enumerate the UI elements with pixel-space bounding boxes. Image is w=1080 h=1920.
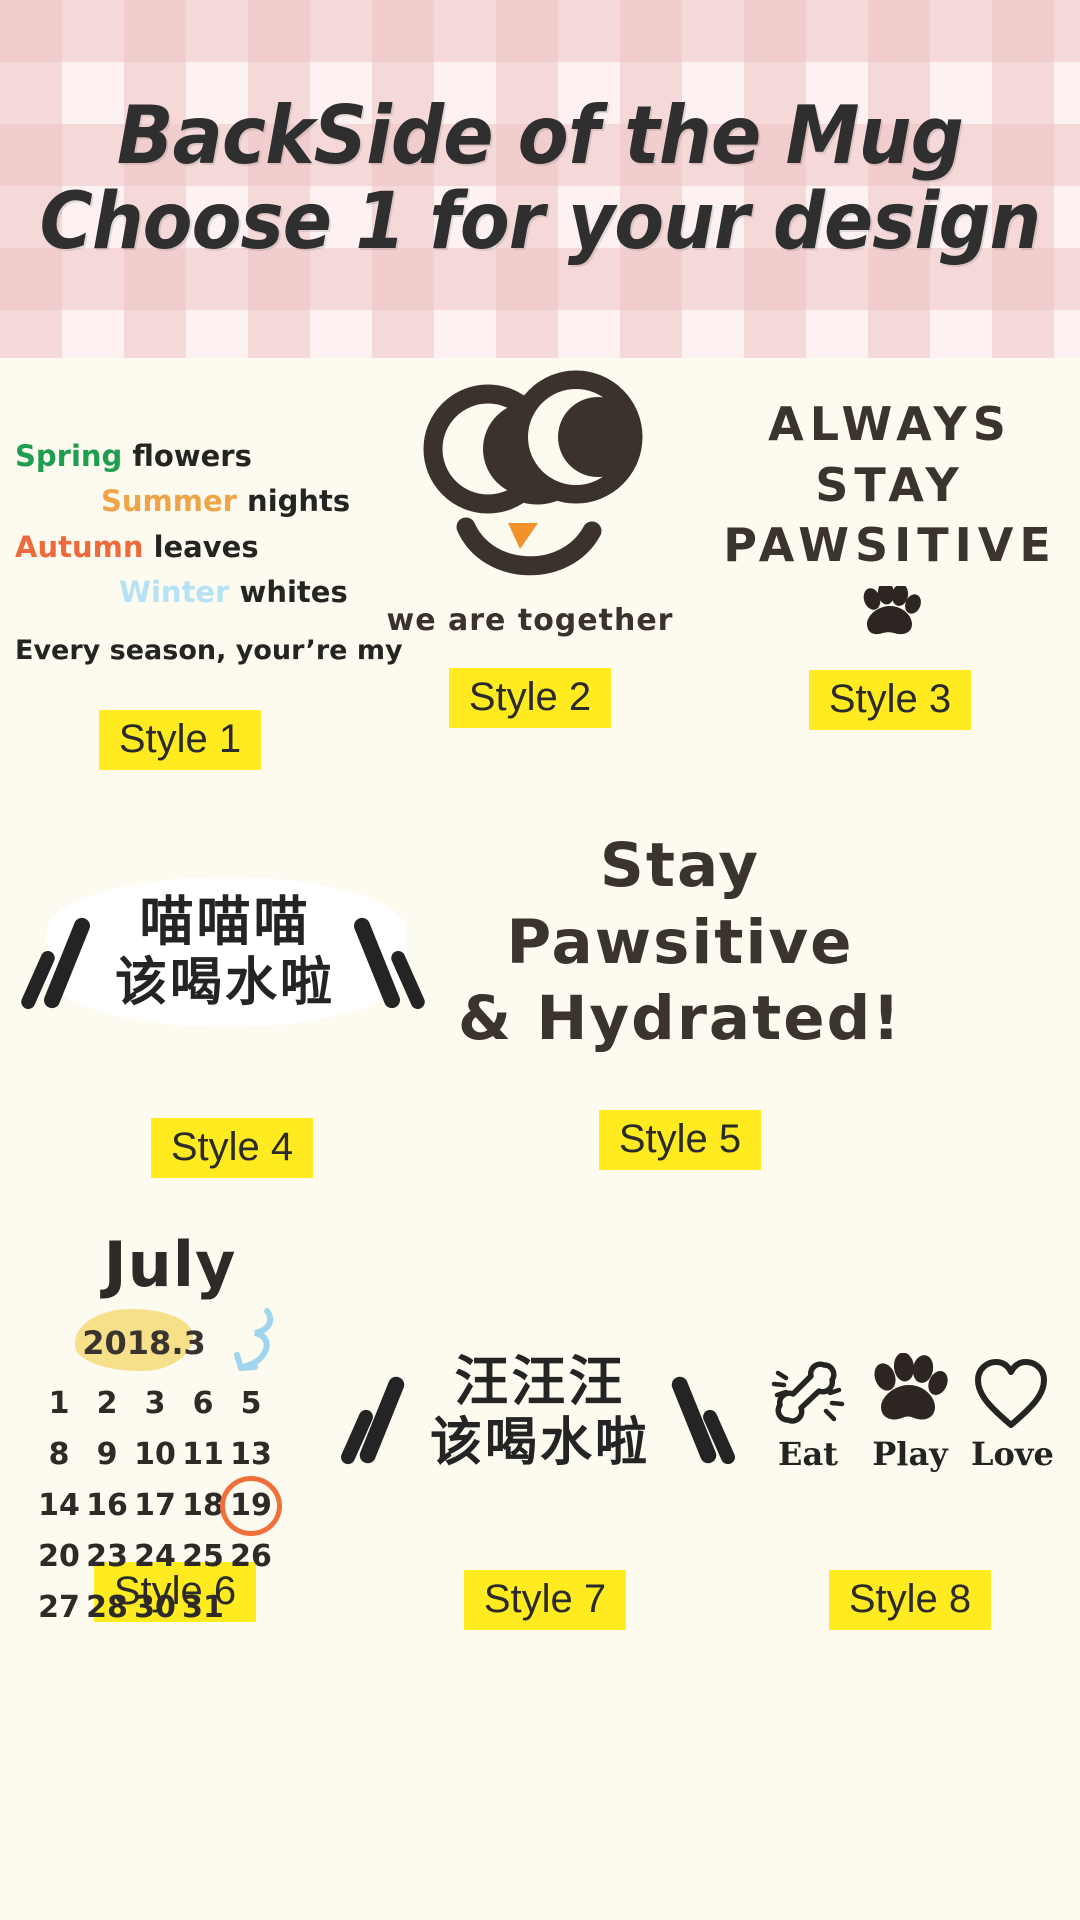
- calendar-day[interactable]: 10: [131, 1432, 179, 1477]
- style-4-sticker: 喵喵喵 该喝水啦: [25, 863, 425, 1043]
- style-7-sticker: 汪汪汪 该喝水啦: [350, 1328, 730, 1498]
- calendar-day[interactable]: 16: [83, 1483, 131, 1528]
- calendar-day[interactable]: 27: [35, 1585, 83, 1630]
- calendar-day[interactable]: 13: [227, 1432, 275, 1477]
- calendar-day[interactable]: 30: [131, 1585, 179, 1630]
- style-option-6[interactable]: July 2018.3 1 2 3 6 5 8 9: [0, 1218, 340, 1622]
- seasons-closing-line: Every season, your’re my: [15, 630, 345, 672]
- style-6-artwork: July 2018.3 1 2 3 6 5 8 9: [25, 1218, 315, 1548]
- season-rest-autumn: leaves: [154, 530, 259, 564]
- style-7-artwork: 汪汪汪 该喝水啦: [350, 1298, 730, 1528]
- calendar-year: 2018.3: [82, 1324, 205, 1362]
- bone-icon: [768, 1353, 848, 1433]
- calendar-day[interactable]: 20: [35, 1534, 83, 1579]
- eat-play-love-words: Eat Play Love: [767, 1435, 1053, 1473]
- style-8-artwork: Eat Play Love: [767, 1298, 1053, 1528]
- style-option-1[interactable]: Spring flowers Summer nights Autumn leav…: [0, 368, 360, 770]
- season-rest-summer: nights: [247, 484, 350, 518]
- style-7-line-2: 该喝水啦: [430, 1413, 650, 1474]
- style-1-artwork: Spring flowers Summer nights Autumn leav…: [15, 368, 345, 678]
- style-4-line-1: 喵喵喵: [115, 892, 335, 952]
- style-5-label[interactable]: Style 5: [599, 1110, 761, 1170]
- word-love: Love: [971, 1435, 1053, 1473]
- style-3-artwork: ALWAYS STAY PAWSITIVE: [723, 358, 1057, 638]
- calendar-day[interactable]: 11: [179, 1432, 227, 1477]
- style-4-artwork: 喵喵喵 该喝水啦: [25, 838, 425, 1068]
- style-5-artwork: Stay Pawsitive & Hydrated!: [458, 818, 902, 1068]
- style-4-text: 喵喵喵 该喝水啦: [115, 892, 335, 1014]
- header-title-line-2: Choose 1 for your design: [40, 182, 1041, 264]
- styles-grid: Spring flowers Summer nights Autumn leav…: [0, 358, 1080, 1920]
- hydrated-line-3: & Hydrated!: [458, 981, 902, 1058]
- calendar-day[interactable]: 31: [179, 1585, 227, 1630]
- curved-arrow-icon: [225, 1305, 281, 1379]
- season-rest-winter: whites: [240, 575, 348, 609]
- pawsitive-line-1: ALWAYS: [723, 394, 1057, 455]
- header-banner: BackSide of the Mug Choose 1 for your de…: [0, 0, 1080, 358]
- style-7-label[interactable]: Style 7: [464, 1570, 626, 1630]
- style-option-4[interactable]: 喵喵喵 该喝水啦 Style 4: [0, 838, 450, 1178]
- season-accent-spring: Spring: [15, 439, 122, 473]
- calendar-day[interactable]: 17: [131, 1483, 179, 1528]
- pawsitive-line-3: PAWSITIVE: [723, 515, 1057, 576]
- season-rest-spring: flowers: [132, 439, 251, 473]
- style-4-line-2: 该喝水啦: [115, 953, 335, 1014]
- style-option-8[interactable]: Eat Play Love Style 8: [740, 1298, 1080, 1630]
- calendar-day[interactable]: 24: [131, 1534, 179, 1579]
- calendar-day[interactable]: 26: [227, 1534, 275, 1579]
- seasons-poem: Spring flowers Summer nights Autumn leav…: [15, 434, 345, 672]
- header-title-line-1: BackSide of the Mug: [117, 94, 963, 178]
- paw-print-icon: [859, 586, 921, 638]
- calendar-day-selected[interactable]: 19: [227, 1483, 275, 1528]
- style-option-3[interactable]: ALWAYS STAY PAWSITIVE Style 3: [700, 358, 1080, 730]
- season-accent-autumn: Autumn: [15, 530, 143, 564]
- style-2-artwork: we are together: [380, 358, 680, 638]
- style-2-caption: we are together: [387, 603, 674, 638]
- heart-icon: [970, 1353, 1052, 1433]
- cat-face-icon: [380, 365, 680, 595]
- calendar-day[interactable]: 25: [179, 1534, 227, 1579]
- style-option-7[interactable]: 汪汪汪 该喝水啦 Style 7: [340, 1298, 740, 1630]
- style-option-2[interactable]: we are together Style 2: [350, 358, 710, 728]
- style-7-text: 汪汪汪 该喝水啦: [430, 1352, 650, 1474]
- style-2-label[interactable]: Style 2: [449, 668, 611, 728]
- style-option-5[interactable]: Stay Pawsitive & Hydrated! Style 5: [450, 818, 910, 1170]
- calendar-day[interactable]: 23: [83, 1534, 131, 1579]
- style-4-label[interactable]: Style 4: [151, 1118, 313, 1178]
- style-7-line-1: 汪汪汪: [430, 1352, 650, 1412]
- hydrated-line-1: Stay: [458, 828, 902, 905]
- word-play: Play: [869, 1435, 951, 1473]
- hydrated-line-2: Pawsitive: [458, 905, 902, 982]
- calendar-day[interactable]: [227, 1585, 275, 1630]
- pawsitive-line-2: STAY: [723, 455, 1057, 516]
- calendar-widget: July 2018.3 1 2 3 6 5 8 9: [25, 1228, 315, 1630]
- style-3-label[interactable]: Style 3: [809, 670, 971, 730]
- calendar-day[interactable]: 6: [179, 1381, 227, 1426]
- word-eat: Eat: [767, 1435, 849, 1473]
- calendar-day[interactable]: 28: [83, 1585, 131, 1630]
- pawsitive-slogan: ALWAYS STAY PAWSITIVE: [723, 394, 1057, 576]
- calendar-day[interactable]: 2: [83, 1381, 131, 1426]
- calendar-month: July: [25, 1228, 315, 1301]
- style-1-label[interactable]: Style 1: [99, 710, 261, 770]
- hydrated-slogan: Stay Pawsitive & Hydrated!: [458, 828, 902, 1059]
- style-8-label[interactable]: Style 8: [829, 1570, 991, 1630]
- calendar-days-grid: 1 2 3 6 5 8 9 10 11 13 14 16 17 18 19 20: [35, 1381, 275, 1630]
- calendar-day[interactable]: 5: [227, 1381, 275, 1426]
- calendar-day[interactable]: 3: [131, 1381, 179, 1426]
- paw-print-icon: [868, 1353, 950, 1433]
- season-accent-winter: Winter: [119, 575, 229, 609]
- season-accent-summer: Summer: [101, 484, 237, 518]
- calendar-day[interactable]: 9: [83, 1432, 131, 1477]
- calendar-day[interactable]: 8: [35, 1432, 83, 1477]
- calendar-day[interactable]: 14: [35, 1483, 83, 1528]
- calendar-day[interactable]: 1: [35, 1381, 83, 1426]
